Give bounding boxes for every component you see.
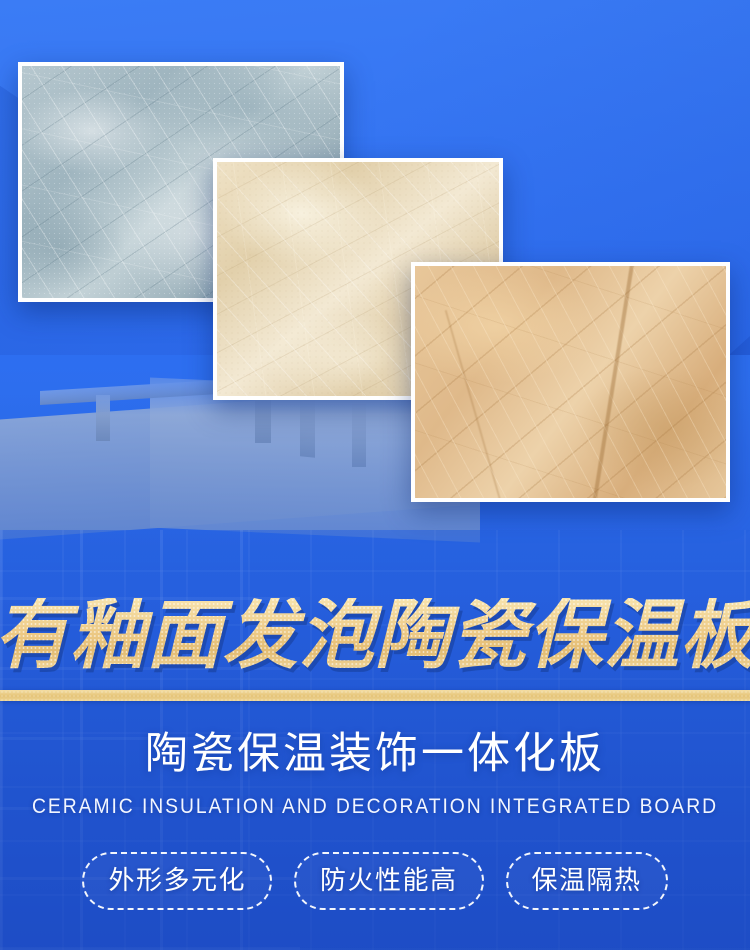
subtitle-chinese: 陶瓷保温装饰一体化板 — [0, 733, 750, 776]
feature-pill-group: 外形多元化 防火性能高 保温隔热 — [0, 852, 750, 910]
subtitle-english: CERAMIC INSULATION AND DECORATION INTEGR… — [30, 796, 720, 817]
feature-pill-fire-resistance[interactable]: 防火性能高 — [294, 852, 484, 910]
tile-sample-tan-marble[interactable] — [411, 262, 730, 502]
gold-divider — [0, 690, 750, 701]
product-banner: 有釉面发泡陶瓷保温板 陶瓷保温装饰一体化板 CERAMIC INSULATION… — [0, 0, 750, 950]
feature-pill-thermal-insulation[interactable]: 保温隔热 — [506, 852, 668, 910]
headline-container: 有釉面发泡陶瓷保温板 — [0, 588, 750, 684]
feature-pill-shape-variety[interactable]: 外形多元化 — [82, 852, 272, 910]
tile-veining — [415, 266, 726, 498]
headline-text: 有釉面发泡陶瓷保温板 — [0, 598, 750, 674]
